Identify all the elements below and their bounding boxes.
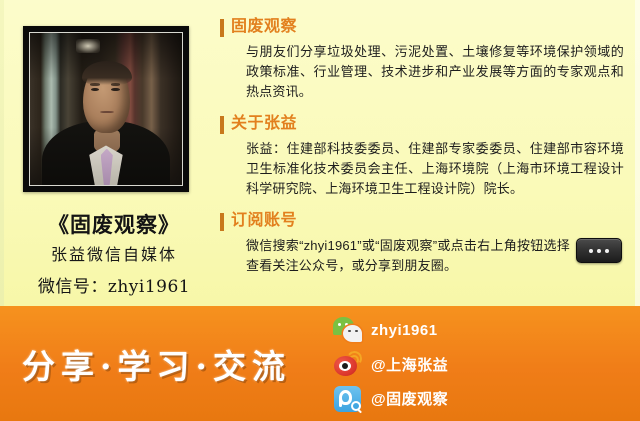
footer-bar: 分享·学习·交流 zhyi1961: [0, 306, 640, 421]
section-heading-text: 关于张益: [231, 115, 297, 132]
social-item-wechat[interactable]: zhyi1961: [333, 314, 483, 347]
account-subtitle: 张益微信自媒体: [14, 241, 214, 265]
social-list: zhyi1961 @上海张益: [333, 314, 483, 416]
info-column: 固废观察 与朋友们分享垃圾处理、污泥处置、土壤修复等环境保护领域的政策标准、行业…: [220, 16, 628, 287]
section-heading-text: 固废观察: [231, 18, 297, 35]
slogan-text: 分享·学习·交流: [22, 340, 291, 388]
section-heading: 固废观察: [220, 16, 628, 38]
section-body: 微信搜索“zhyi1961”或“固废观察”或点击右上角按钮选择查看关注公众号，或…: [220, 236, 628, 276]
section-guanfei-guancha: 固废观察 与朋友们分享垃圾处理、污泥处置、土壤修复等环境保护领域的政策标准、行业…: [220, 16, 628, 102]
wechat-bubble-front: [343, 325, 362, 342]
weibo-eye-inner: [342, 363, 348, 369]
dot-1: [589, 249, 593, 253]
profile-column: 《固废观察》 张益微信自媒体 微信号：zhyi1961: [14, 16, 214, 296]
accent-bar-icon: [220, 213, 224, 231]
account-name: 《固废观察》: [14, 209, 214, 239]
qq-badge-tail: [357, 408, 362, 413]
portrait-hair: [82, 61, 132, 85]
portrait-image: [29, 32, 183, 186]
weibo-icon: [333, 350, 363, 380]
wechat-dot-3: [348, 330, 351, 333]
qq-icon: [333, 384, 363, 414]
section-heading: 关于张益: [220, 113, 628, 135]
portrait-eye-right: [111, 88, 119, 91]
section-body: 张益：住建部科技委委员、住建部专家委委员、住建部市容环境卫生标准化技术委员会主任…: [220, 139, 628, 199]
portrait-brow-left: [90, 83, 100, 85]
left-edge-strip: [0, 0, 4, 306]
social-label: @上海张益: [371, 354, 448, 375]
dot-3: [605, 249, 609, 253]
social-item-qq[interactable]: @固废观察: [333, 382, 483, 415]
accent-bar-icon: [220, 116, 224, 134]
section-about-zhangyi: 关于张益 张益：住建部科技委委员、住建部专家委委员、住建部市容环境卫生标准化技术…: [220, 113, 628, 199]
wechat-dot-1: [338, 323, 341, 326]
portrait-frame: [23, 26, 189, 192]
photo-highlight: [76, 39, 100, 53]
more-dots-icon[interactable]: [576, 238, 622, 263]
section-heading-text: 订阅账号: [231, 212, 297, 229]
portrait-mouth: [100, 111, 114, 113]
section-subscribe: 订阅账号 微信搜索“zhyi1961”或“固废观察”或点击右上角按钮选择查看关注…: [220, 210, 628, 276]
section-heading: 订阅账号: [220, 210, 628, 232]
wechat-dot-4: [355, 330, 358, 333]
right-edge-strip: [635, 0, 640, 306]
section-body: 与朋友们分享垃圾处理、污泥处置、土壤修复等环境保护领域的政策标准、行业管理、技术…: [220, 42, 628, 102]
dot-2: [597, 249, 601, 253]
promo-banner: 《固废观察》 张益微信自媒体 微信号：zhyi1961 固废观察 与朋友们分享垃…: [0, 0, 640, 421]
social-label: @固废观察: [371, 388, 448, 409]
social-label: zhyi1961: [371, 322, 438, 339]
accent-bar-icon: [220, 19, 224, 37]
wechat-icon: [333, 316, 363, 346]
social-item-weibo[interactable]: @上海张益: [333, 348, 483, 381]
qq-penguin-tail: [339, 398, 342, 407]
portrait-brow-right: [111, 83, 121, 85]
account-wechat-id: 微信号：zhyi1961: [14, 272, 214, 297]
